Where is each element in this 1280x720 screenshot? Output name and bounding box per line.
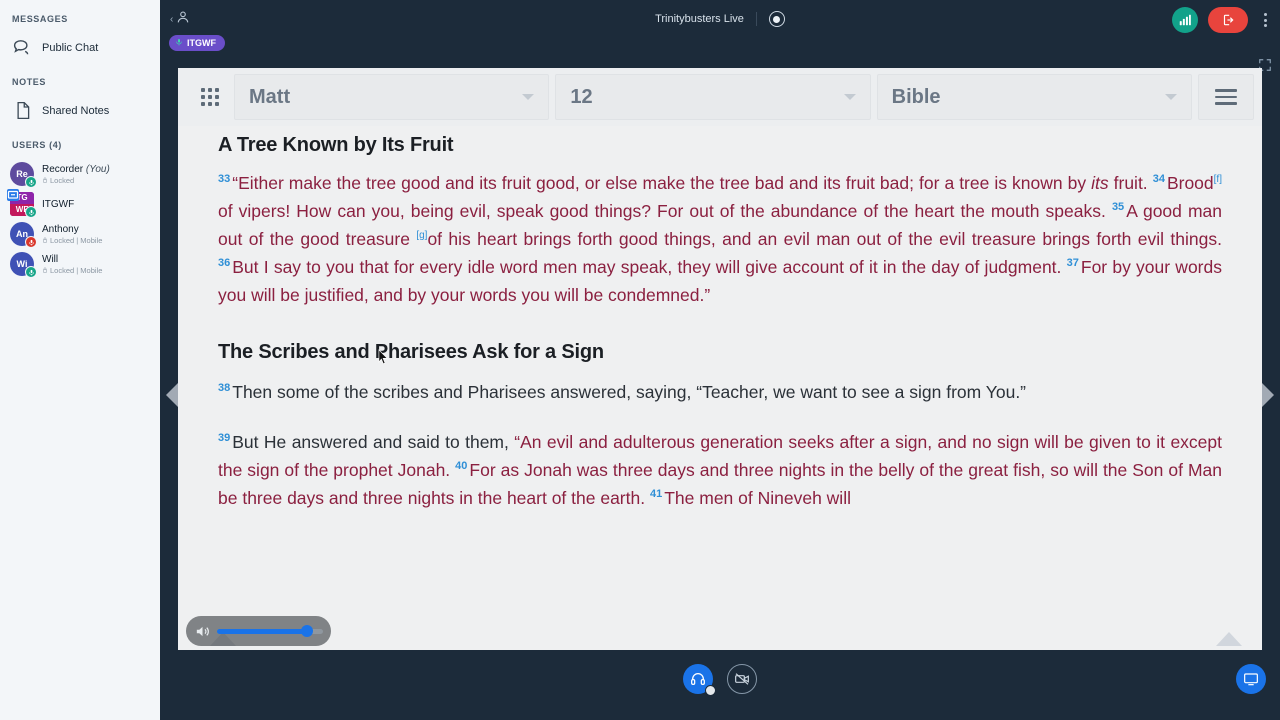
user-list-item[interactable]: Re Recorder (You) Locked <box>0 159 160 189</box>
connection-status-icon[interactable] <box>1172 7 1198 33</box>
footnote-link[interactable]: [f] <box>1214 174 1222 185</box>
messages-section-header: MESSAGES <box>0 14 160 24</box>
user-list-item[interactable]: An Anthony Locked | Mobile <box>0 219 160 249</box>
verse-text: Then some of the scribes and Pharisees a… <box>232 382 1026 402</box>
verse-text: But He answered and said to them, <box>232 432 514 452</box>
verse-number: 33 <box>218 173 230 185</box>
camera-button[interactable] <box>727 664 757 694</box>
presentation-document: Matt 12 Bible <box>178 68 1262 650</box>
user-meta: Recorder (You) Locked <box>42 164 110 185</box>
meeting-title: Trinitybusters Live <box>655 13 744 25</box>
user-status: Locked | Mobile <box>42 266 102 275</box>
sidebar-item-shared-notes[interactable]: Shared Notes <box>0 96 160 125</box>
verse-paragraph-39-41: 39But He answered and said to them, “An … <box>218 428 1222 512</box>
top-bar: ‹ ITGWF Trinitybusters Live <box>160 0 1280 68</box>
record-icon[interactable] <box>769 11 785 27</box>
top-bar-actions <box>1172 7 1272 33</box>
user-list-item[interactable]: Wi Will Locked | Mobile <box>0 249 160 279</box>
verse-text: fruit. <box>1109 173 1153 193</box>
microphone-icon <box>25 206 37 218</box>
speaker-icon[interactable] <box>194 623 211 640</box>
verse-number: 41 <box>650 488 662 500</box>
apps-grid-icon[interactable] <box>186 74 234 120</box>
user-name: Anthony <box>42 224 102 235</box>
chat-icon <box>12 37 33 58</box>
leave-meeting-button[interactable] <box>1208 7 1248 33</box>
verse-text: The men of Nineveh will <box>664 488 851 508</box>
verse-number: 36 <box>218 257 230 269</box>
avatar: Wi <box>10 252 34 276</box>
scroll-up-arrow[interactable] <box>1216 632 1242 646</box>
verse-text: “Either make the tree good and its fruit… <box>232 173 1091 193</box>
book-select-value: Matt <box>249 86 290 109</box>
hamburger-menu-icon <box>1215 89 1237 105</box>
volume-slider[interactable] <box>217 629 323 634</box>
user-meta: Will Locked | Mobile <box>42 254 102 275</box>
sidebar-item-public-chat[interactable]: Public Chat <box>0 33 160 62</box>
verse-number: 40 <box>455 460 467 472</box>
user-status: Locked <box>42 176 110 185</box>
toggle-userlist-button[interactable]: ‹ <box>170 9 191 30</box>
section-heading-2: The Scribes and Pharisees Ask for a Sign <box>218 341 1222 364</box>
footnote-link[interactable]: [g] <box>416 230 427 241</box>
chapter-select-value: 12 <box>570 86 592 109</box>
screen-share-button[interactable] <box>1236 664 1266 694</box>
notes-icon <box>12 100 33 121</box>
verse-text: But I say to you that for every idle wor… <box>232 257 1066 277</box>
user-icon <box>175 9 191 30</box>
spacer <box>0 127 160 140</box>
verse-paragraph-33-37: 33“Either make the tree good and its fru… <box>218 169 1222 309</box>
avatar: An <box>10 222 34 246</box>
microphone-muted-icon <box>25 236 37 248</box>
verse-number: 37 <box>1067 257 1079 269</box>
bottom-actions <box>160 664 1280 694</box>
verse-number: 34 <box>1153 173 1165 185</box>
user-name: ITGWF <box>42 199 74 210</box>
volume-control[interactable] <box>186 616 331 646</box>
verse-text: of his heart brings forth good things, a… <box>427 229 1222 249</box>
notes-section-header: NOTES <box>0 77 160 87</box>
public-chat-label: Public Chat <box>42 42 98 54</box>
chevron-down-icon <box>844 94 856 100</box>
audio-button[interactable] <box>683 664 713 694</box>
bottom-action-bar <box>160 650 1280 720</box>
book-select[interactable]: Matt <box>234 74 549 120</box>
user-status: Locked | Mobile <box>42 236 102 245</box>
presenter-tag[interactable]: ITGWF <box>169 35 225 51</box>
audio-status-dot <box>705 685 716 696</box>
version-select[interactable]: Bible <box>877 74 1192 120</box>
verse-text: of vipers! How can you, being evil, spea… <box>218 201 1112 221</box>
spacer <box>0 64 160 77</box>
bible-toolbar: Matt 12 Bible <box>178 68 1262 126</box>
kebab-menu-icon[interactable] <box>1258 7 1272 33</box>
section-heading-1: A Tree Known by Its Fruit <box>218 134 1222 157</box>
avatar: TG WF <box>10 192 34 216</box>
bottom-right-actions <box>1236 664 1266 694</box>
chevron-down-icon <box>522 94 534 100</box>
hamburger-menu-button[interactable] <box>1198 74 1254 120</box>
verse-number: 38 <box>218 382 230 394</box>
volume-slider-knob[interactable] <box>301 625 313 637</box>
chevron-left-icon: ‹ <box>170 14 173 25</box>
chevron-down-icon <box>1165 94 1177 100</box>
version-select-value: Bible <box>892 86 941 109</box>
verse-text: Brood <box>1167 173 1214 193</box>
user-meta: ITGWF <box>42 199 74 210</box>
user-meta: Anthony Locked | Mobile <box>42 224 102 245</box>
scripture-page: A Tree Known by Its Fruit 33“Either make… <box>178 126 1262 650</box>
volume-slider-fill <box>217 629 307 634</box>
user-list-item[interactable]: TG WF ITGWF <box>0 189 160 219</box>
presentation-stage: Matt 12 Bible <box>160 68 1280 650</box>
divider <box>756 12 757 26</box>
left-sidebar: MESSAGES Public Chat NOTES Shared Notes … <box>0 0 160 720</box>
user-name: Recorder (You) <box>42 164 110 175</box>
presenter-icon <box>7 189 19 201</box>
microphone-icon <box>175 38 183 48</box>
main-area: ‹ ITGWF Trinitybusters Live <box>160 0 1280 720</box>
chapter-select[interactable]: 12 <box>555 74 870 120</box>
shared-notes-label: Shared Notes <box>42 105 109 117</box>
verse-paragraph-38: 38Then some of the scribes and Pharisees… <box>218 378 1222 406</box>
users-section-header: USERS (4) <box>0 140 160 150</box>
user-name: Will <box>42 254 102 265</box>
verse-number: 35 <box>1112 201 1124 213</box>
presenter-tag-label: ITGWF <box>187 38 216 48</box>
avatar: Re <box>10 162 34 186</box>
bigbluebutton-meeting-window: MESSAGES Public Chat NOTES Shared Notes … <box>0 0 1280 720</box>
microphone-icon <box>25 176 37 188</box>
meeting-title-group: Trinitybusters Live <box>160 11 1280 27</box>
verse-number: 39 <box>218 432 230 444</box>
microphone-icon <box>25 266 37 278</box>
verse-text-italic: its <box>1091 173 1109 193</box>
